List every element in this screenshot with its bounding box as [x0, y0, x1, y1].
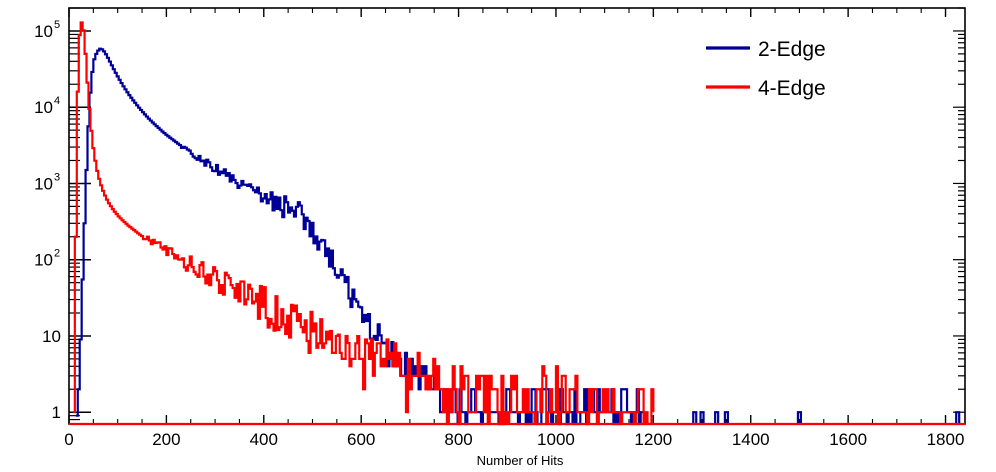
y-tick-label: 1 [52, 403, 61, 422]
svg-text:4: 4 [54, 95, 60, 107]
svg-text:10: 10 [42, 327, 61, 346]
x-tick-label: 600 [347, 430, 375, 449]
svg-text:3: 3 [54, 171, 60, 183]
x-tick-label: 800 [444, 430, 472, 449]
svg-text:10: 10 [34, 98, 53, 117]
histogram-plot: 020040060080010001200140016001800 110102… [0, 0, 996, 472]
y-tick-label: 10 [42, 327, 61, 346]
svg-text:10: 10 [34, 22, 53, 41]
svg-text:1: 1 [52, 403, 61, 422]
x-tick-label: 200 [152, 430, 180, 449]
svg-text:10: 10 [34, 174, 53, 193]
x-tick-label: 1000 [537, 430, 575, 449]
x-tick-label: 1400 [732, 430, 770, 449]
legend-label-2-edge: 2-Edge [758, 38, 826, 61]
chart-canvas: 020040060080010001200140016001800 110102… [0, 0, 996, 472]
legend-label-4-edge: 4-Edge [758, 77, 826, 100]
x-axis-title: Number of Hits [477, 453, 564, 468]
x-tick-label: 1200 [634, 430, 672, 449]
svg-text:5: 5 [54, 19, 60, 31]
svg-text:2: 2 [54, 248, 60, 260]
x-tick-label: 400 [250, 430, 278, 449]
x-tick-label: 1600 [829, 430, 867, 449]
svg-text:10: 10 [34, 251, 53, 270]
x-tick-label: 1800 [927, 430, 965, 449]
x-tick-label: 0 [64, 430, 73, 449]
